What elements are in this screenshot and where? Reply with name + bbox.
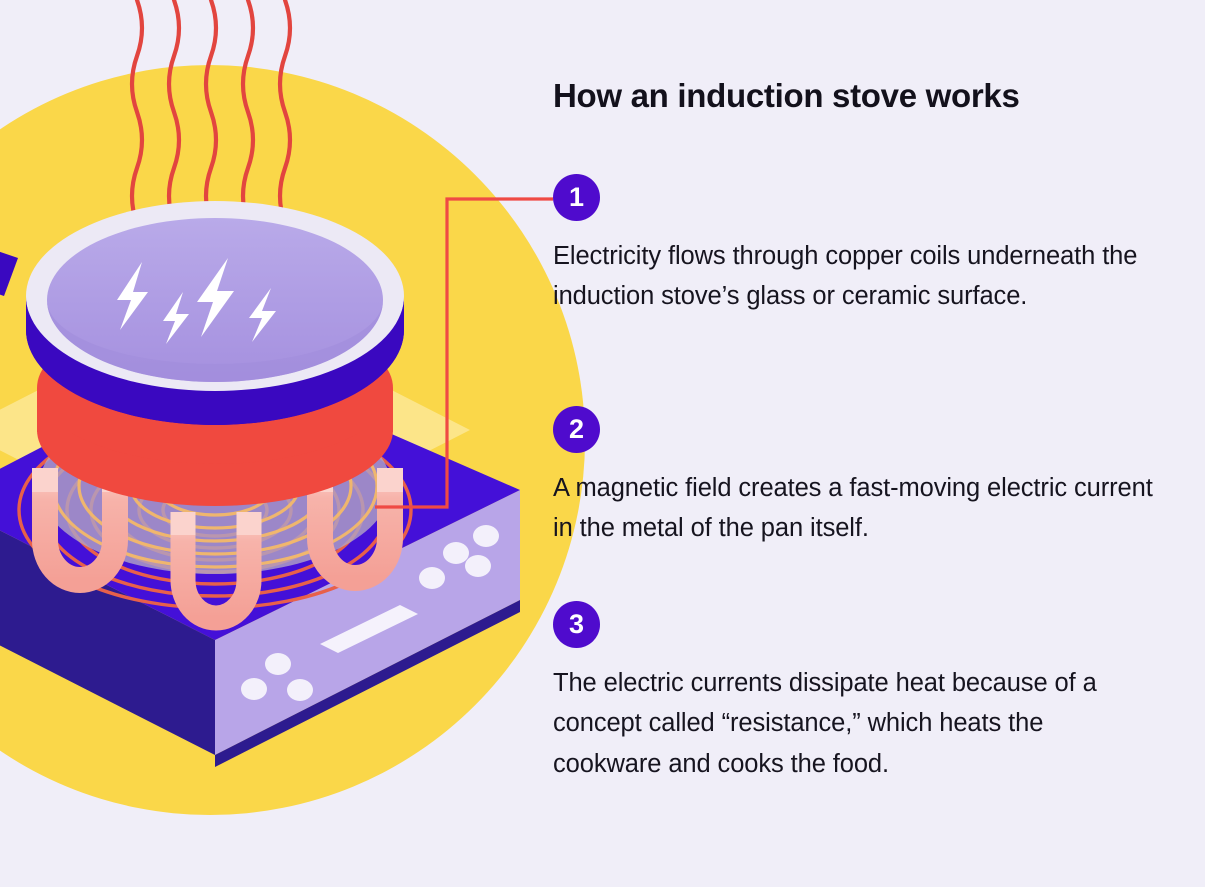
induction-stove-illustration [0,0,620,887]
control-button [465,555,491,577]
infographic-root: How an induction stove works 1 Electrici… [0,0,1205,887]
step-text-2: A magnetic field creates a fast-moving e… [553,468,1153,549]
step-badge-2: 2 [553,406,600,453]
control-button [443,542,469,564]
control-button [287,679,313,701]
step-text-3: The electric currents dissipate heat bec… [553,663,1153,784]
step-badge-1: 1 [553,174,600,221]
page-title: How an induction stove works [553,78,1153,114]
step-badge-3: 3 [553,601,600,648]
control-button [241,678,267,700]
control-button [419,567,445,589]
step-2: 2 A magnetic field creates a fast-moving… [553,406,1153,574]
step-1: 1 Electricity flows through copper coils… [553,174,1153,342]
text-panel: How an induction stove works 1 Electrici… [553,78,1153,838]
control-button [265,653,291,675]
control-button [473,525,499,547]
step-3: 3 The electric currents dissipate heat b… [553,601,1153,809]
step-text-1: Electricity flows through copper coils u… [553,236,1153,317]
